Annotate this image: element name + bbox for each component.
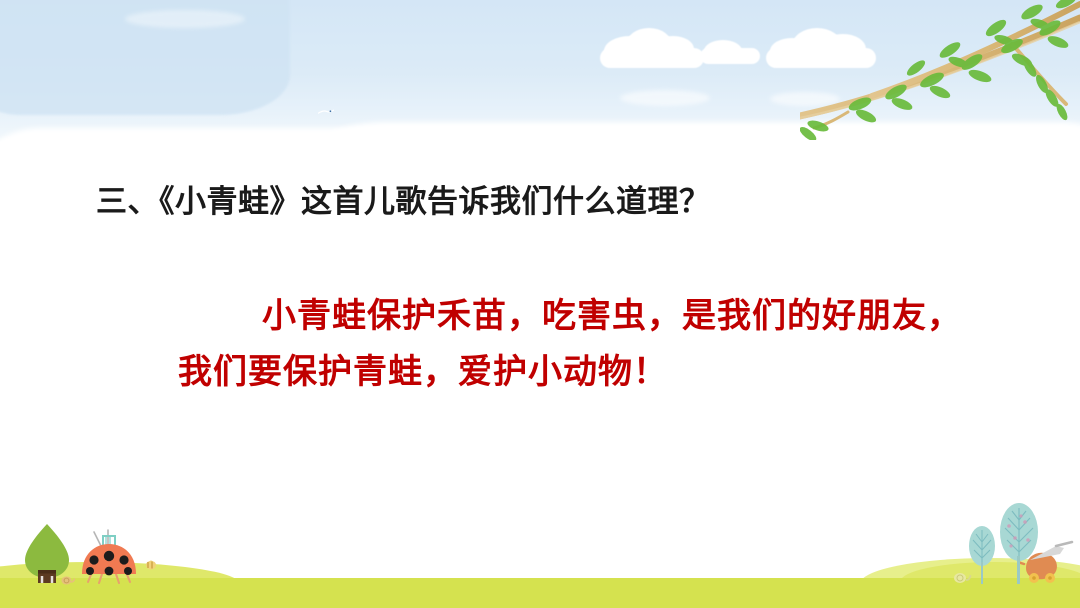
bird-icon: [318, 109, 334, 114]
snail-left: [60, 572, 76, 584]
ladybug: [78, 526, 140, 584]
cloud-wisp-a: [620, 90, 710, 106]
question-heading: 三、《小青蛙》这首儿歌告诉我们什么道理？: [96, 181, 711, 223]
bird-with-cart: [1020, 538, 1080, 584]
bee: [142, 554, 160, 572]
leafy-branch-decoration: [800, 0, 1080, 140]
cloud-wisp-c: [125, 10, 245, 28]
answer-text: 小青蛙保护禾苗，吃害虫，是我们的好朋友，我们要保护青蛙，爱护小动物！: [178, 288, 968, 400]
slide-canvas: 三、《小青蛙》这首儿歌告诉我们什么道理？ 小青蛙保护禾苗，吃害虫，是我们的好朋友…: [0, 0, 1080, 608]
right-tree-small: [965, 524, 999, 584]
grass-strip: [0, 578, 1080, 608]
